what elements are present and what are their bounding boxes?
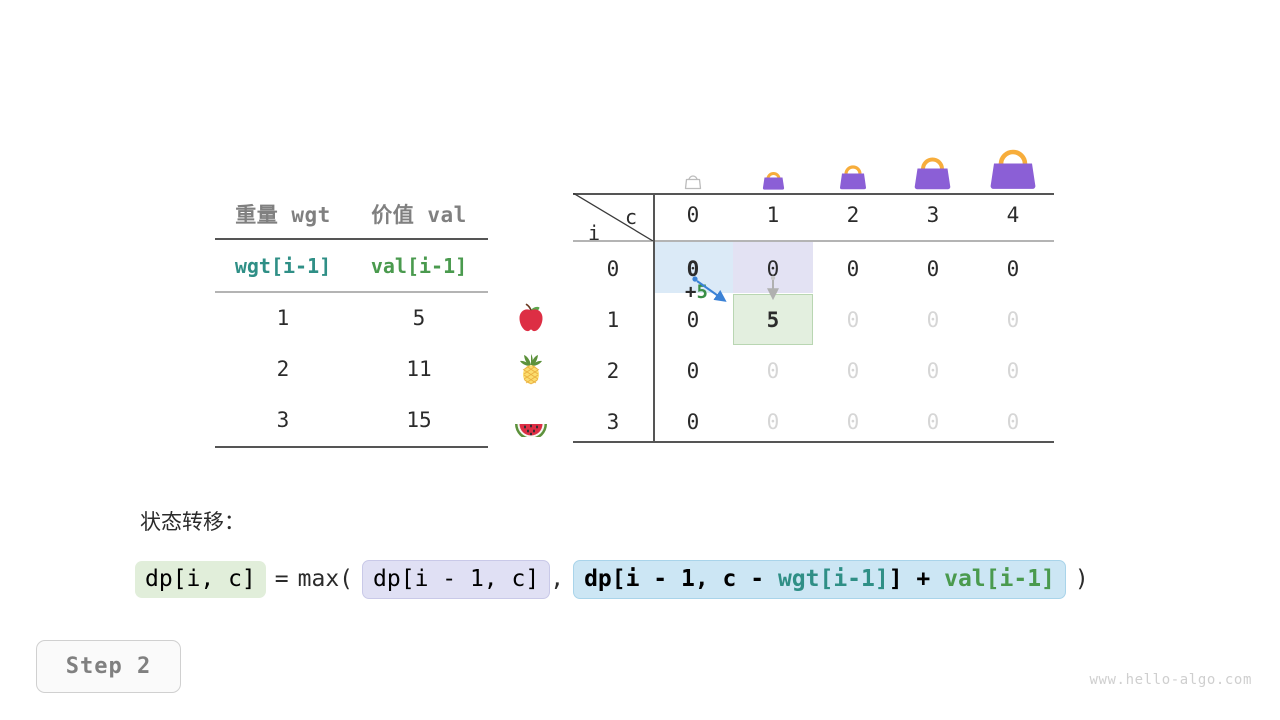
dp-cell-0-1: 0 — [733, 257, 813, 281]
plus-sign: + — [685, 281, 696, 303]
items-subheader-wgt: wgt[i-1] — [215, 254, 351, 278]
dp-col-header-2: 2 — [813, 203, 893, 227]
dp-cell-0-2: 0 — [813, 257, 893, 281]
items-table-rule-bottom — [215, 446, 488, 448]
formula-arg2-prefix: dp[i - 1, c - — [584, 566, 778, 592]
fruit-icon-column — [505, 292, 557, 445]
watermelon-icon — [505, 394, 557, 445]
dp-cell-1-1: 5 — [733, 308, 813, 332]
dp-cell-0-4: 0 — [973, 257, 1053, 281]
corner-diagonal-divider — [573, 193, 654, 241]
formula-max: max( — [298, 568, 353, 591]
dp-cell-2-3: 0 — [893, 359, 973, 383]
dp-cell-1-0: 0 — [653, 308, 733, 332]
dp-col-header-3: 3 — [893, 203, 973, 227]
transition-formula: dp[i, c] = max( dp[i - 1, c] , dp[i - 1,… — [135, 560, 1089, 599]
dp-cell-0-0: 0 — [653, 257, 733, 281]
items-table-header-row: 重量 wgt 价值 val — [215, 190, 488, 238]
dp-cell-2-2: 0 — [813, 359, 893, 383]
items-header-value: 价值 val — [351, 199, 487, 229]
bag-icon-1 — [733, 164, 813, 190]
formula-arg2-val: val[i-1] — [944, 566, 1055, 592]
dp-cell-2-1: 0 — [733, 359, 813, 383]
dp-cell-1-3: 0 — [893, 308, 973, 332]
bag-icon-empty — [653, 171, 733, 190]
formula-arg2-mid: ] + — [889, 566, 944, 592]
dp-cell-1-4: 0 — [973, 308, 1053, 332]
formula-arg2-wgt: wgt[i-1] — [778, 566, 889, 592]
dp-row-header-3: 3 — [573, 410, 653, 434]
dp-cell-2-4: 0 — [973, 359, 1053, 383]
dp-row-header-2: 2 — [573, 359, 653, 383]
bag-icon-row — [573, 118, 1054, 190]
apple-icon — [505, 292, 557, 343]
watermark: www.hello-algo.com — [1089, 672, 1252, 688]
dp-col-header-4: 4 — [973, 203, 1053, 227]
table-row: 1 5 — [215, 293, 488, 344]
dp-rule-bottom — [573, 441, 1054, 443]
transition-label: 状态转移： — [140, 506, 245, 536]
corner-label-c: c — [625, 205, 637, 229]
formula-equals: = — [275, 568, 289, 591]
dp-cell-3-1: 0 — [733, 410, 813, 434]
bag-icon-2 — [813, 158, 893, 190]
formula-lhs: dp[i, c] — [135, 561, 266, 598]
item-value-3: 15 — [351, 408, 487, 432]
formula-arg2: dp[i - 1, c - wgt[i-1]] + val[i-1] — [573, 560, 1066, 599]
illustration-canvas: 重量 wgt 价值 val wgt[i-1] val[i-1] 1 5 2 11… — [0, 0, 1280, 720]
pineapple-icon — [505, 343, 557, 394]
dp-cell-3-4: 0 — [973, 410, 1053, 434]
items-table-subheader-row: wgt[i-1] val[i-1] — [215, 240, 488, 291]
formula-arg1: dp[i - 1, c] — [362, 560, 550, 599]
step-badge: Step 2 — [36, 640, 181, 693]
dp-cell-2-0: 0 — [653, 359, 733, 383]
corner-label-i: i — [588, 221, 600, 245]
plus-value-annotation: +5 — [685, 281, 708, 303]
dp-row-header-1: 1 — [573, 308, 653, 332]
bag-icon-3 — [893, 148, 973, 190]
table-row: 3 15 — [215, 395, 488, 446]
items-header-weight: 重量 wgt — [215, 199, 351, 229]
dp-cell-3-3: 0 — [893, 410, 973, 434]
plus-amount: 5 — [696, 281, 707, 303]
table-row: 2 11 — [215, 344, 488, 395]
item-value-2: 11 — [351, 357, 487, 381]
dp-col-header-1: 1 — [733, 203, 813, 227]
item-weight-3: 3 — [215, 408, 351, 432]
items-table: 重量 wgt 价值 val wgt[i-1] val[i-1] 1 5 2 11… — [215, 190, 488, 448]
formula-comma: , — [550, 568, 564, 591]
dp-cell-1-2: 0 — [813, 308, 893, 332]
items-subheader-val: val[i-1] — [351, 254, 487, 278]
dp-cell-0-3: 0 — [893, 257, 973, 281]
dp-row-header-0: 0 — [573, 257, 653, 281]
bag-icon-4 — [973, 138, 1053, 190]
item-value-1: 5 — [351, 306, 487, 330]
item-weight-1: 1 — [215, 306, 351, 330]
dp-cell-3-2: 0 — [813, 410, 893, 434]
dp-cell-3-0: 0 — [653, 410, 733, 434]
formula-close-paren: ) — [1075, 568, 1089, 591]
item-weight-2: 2 — [215, 357, 351, 381]
dp-table: c i 0 1 2 3 4 0 1 2 3 0 0 0 0 0 0 5 0 0 … — [573, 193, 1054, 443]
dp-col-header-0: 0 — [653, 203, 733, 227]
